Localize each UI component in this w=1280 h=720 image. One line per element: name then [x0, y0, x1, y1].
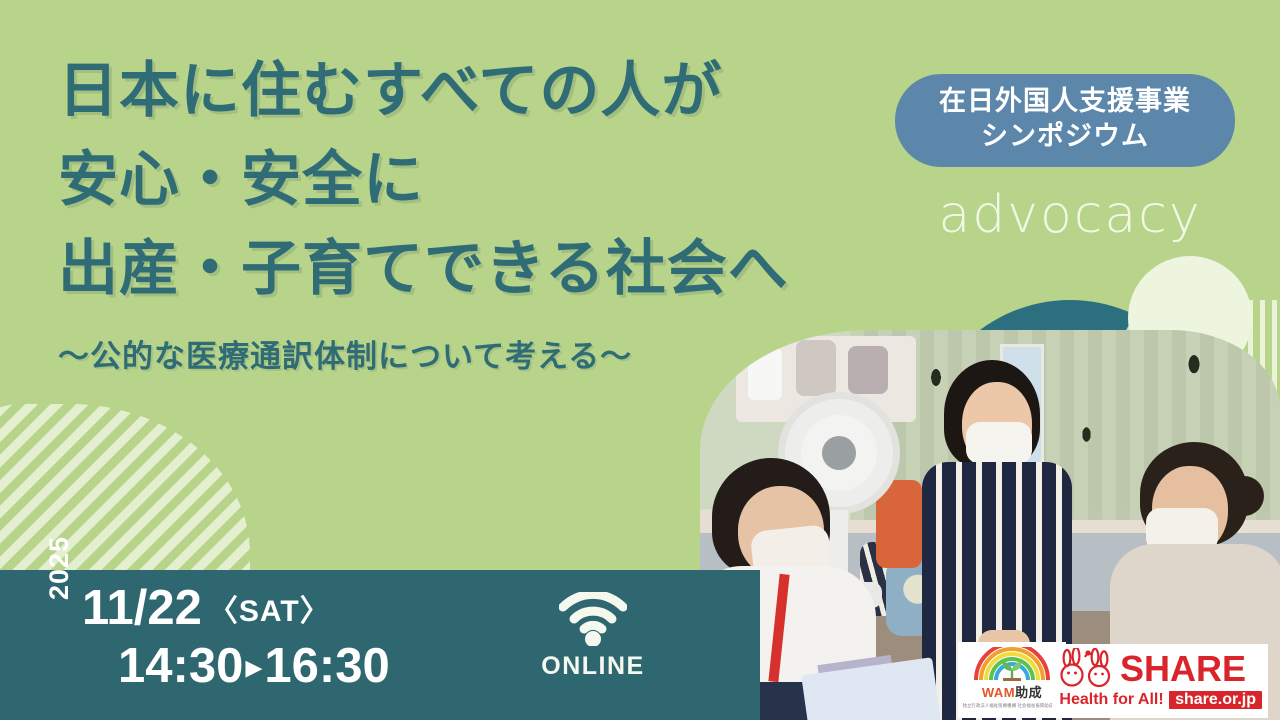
- share-logo-top: SHARE: [1058, 648, 1262, 690]
- page-title: 日本に住むすべての人が 安心・安全に 出産・子育てできる社会へ 〜公的な医療通訳…: [58, 46, 918, 376]
- title-line-2: 安心・安全に: [58, 135, 918, 224]
- event-date: 11/22〈SAT〉: [82, 580, 331, 636]
- share-wordmark: SHARE: [1120, 649, 1246, 689]
- program-name: advocacy: [925, 185, 1215, 245]
- event-time-end: 16:30: [264, 639, 389, 693]
- share-logo-bottom: Health for All! share.or.jp: [1058, 691, 1262, 709]
- badge-line-1: 在日外国人支援事業: [913, 84, 1217, 119]
- symposium-poster: 日本に住むすべての人が 安心・安全に 出産・子育てできる社会へ 〜公的な医療通訳…: [0, 0, 1280, 720]
- fan-hub: [822, 436, 856, 470]
- time-arrow-icon: ▸: [245, 648, 262, 686]
- page-subtitle: 〜公的な医療通訳体制について考える〜: [58, 331, 918, 376]
- striped-blob-decoration: [0, 404, 250, 574]
- badge-line-2: シンポジウム: [913, 119, 1217, 153]
- event-format-label: ONLINE: [528, 652, 658, 681]
- wam-latin: WAM: [982, 685, 1015, 700]
- event-format: ONLINE: [528, 592, 658, 681]
- two-rabbits-icon: [1058, 648, 1116, 690]
- share-logo: SHARE Health for All! share.or.jp: [1052, 644, 1268, 718]
- event-day-of-week: 〈SAT〉: [208, 595, 331, 628]
- wam-logo: WAM助成 独立行政法人福祉医療機構 社会福祉振興助成事業: [958, 642, 1066, 718]
- event-time: 14:30▸16:30: [118, 638, 390, 694]
- share-url: share.or.jp: [1169, 691, 1262, 709]
- share-tagline: Health for All!: [1058, 691, 1165, 709]
- rainbow-sprout-icon: [970, 647, 1054, 681]
- title-line-1: 日本に住むすべての人が: [58, 46, 918, 135]
- face-mask-icon: [966, 422, 1032, 464]
- wifi-icon: [559, 592, 627, 646]
- wam-wordmark: WAM助成: [982, 682, 1042, 701]
- event-date-value: 11/22: [82, 581, 202, 635]
- wam-fine-print: 独立行政法人福祉医療機構 社会福祉振興助成事業: [962, 703, 1062, 709]
- event-time-start: 14:30: [118, 639, 243, 693]
- event-year: 2025: [44, 536, 75, 600]
- wam-jp: 助成: [1015, 685, 1042, 700]
- title-line-3: 出産・子育てできる社会へ: [58, 224, 918, 313]
- status-badge: 在日外国人支援事業 シンポジウム: [895, 74, 1235, 167]
